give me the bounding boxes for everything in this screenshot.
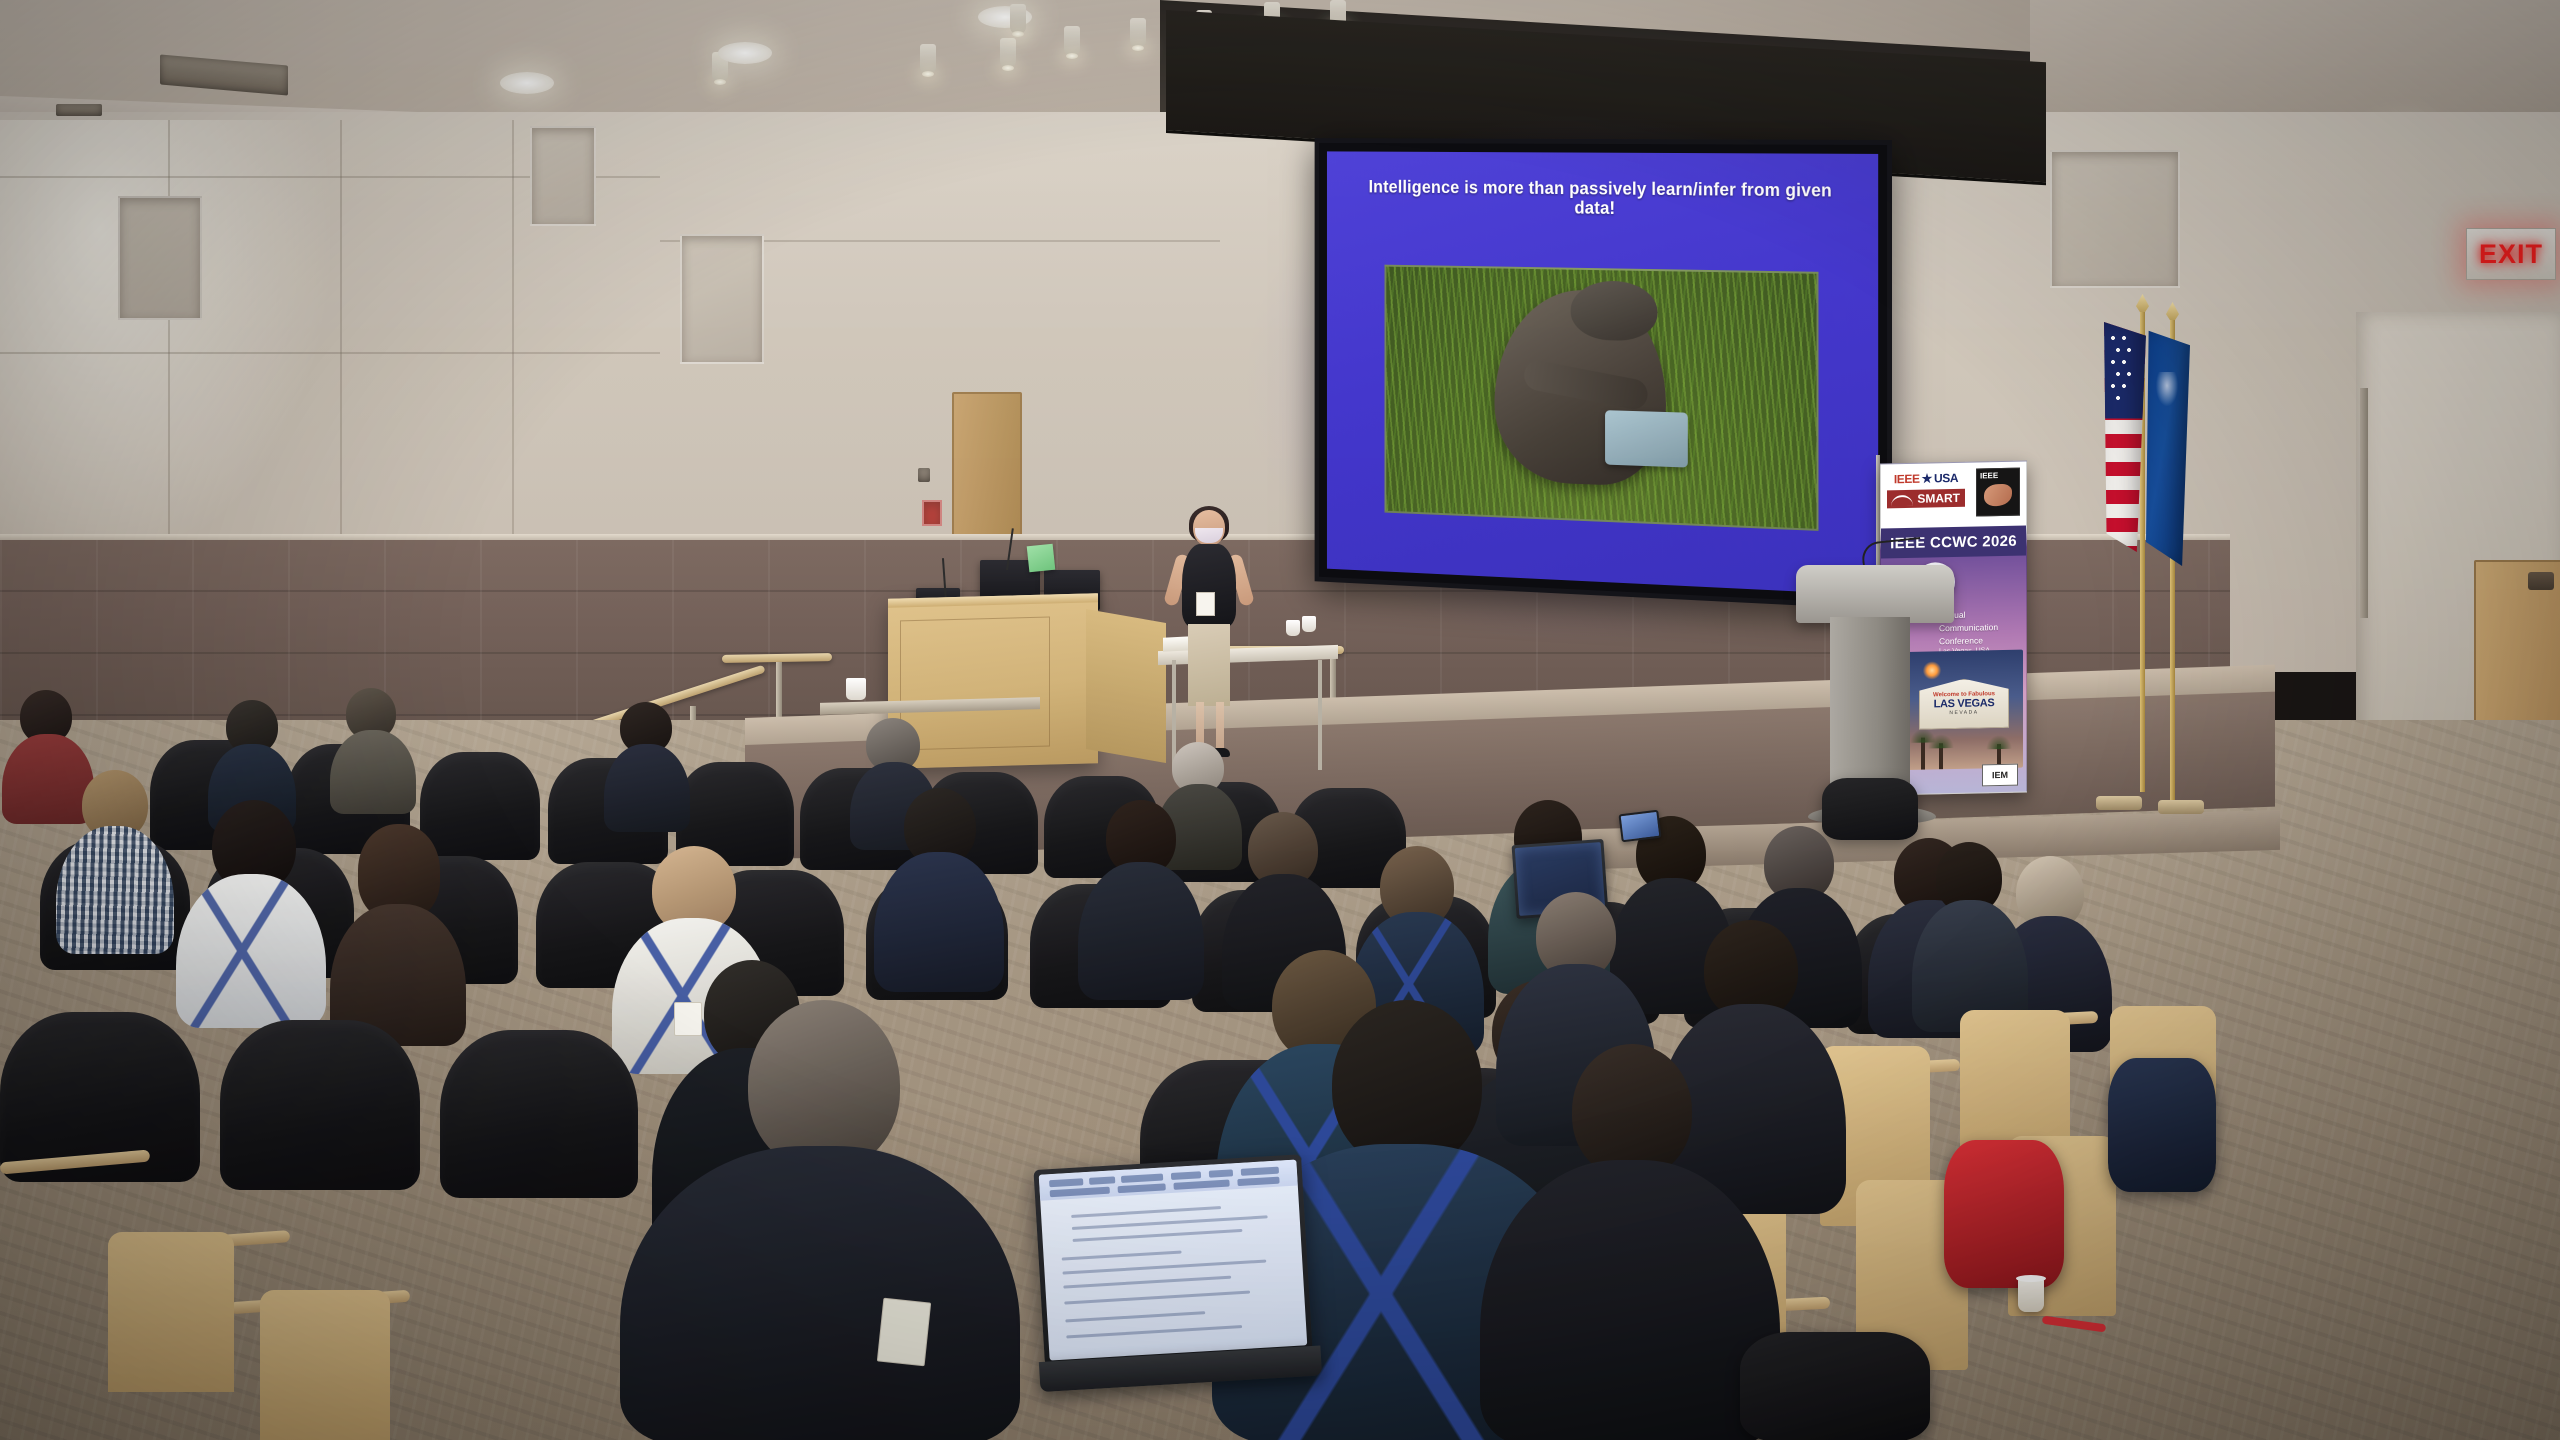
red-backpack — [1944, 1140, 2064, 1288]
nevada-flag-emblem — [2156, 372, 2178, 406]
document-line — [1064, 1291, 1250, 1305]
attendee — [56, 770, 174, 950]
door-closer-hardware — [2528, 572, 2554, 590]
attendee — [330, 824, 466, 1034]
pendant-light — [1010, 4, 1026, 34]
attendee-torso — [604, 744, 690, 832]
lectern-side-wing — [1086, 609, 1166, 763]
podium-column — [1830, 617, 1910, 803]
attendee-torso — [1078, 862, 1204, 1000]
water-cup — [1302, 616, 1316, 632]
attendee-foreground — [1480, 1044, 1780, 1440]
attendee — [604, 702, 690, 826]
attendee-head — [1572, 1044, 1692, 1178]
wall-vent — [56, 104, 102, 116]
wall-alcove-panel — [680, 234, 764, 364]
seat-wood-back — [108, 1232, 234, 1392]
ieee-usa-logo: IEEE ★ USA — [1887, 469, 1965, 489]
smart-logo-label: SMART — [1917, 491, 1960, 506]
laptop-screen[interactable] — [1039, 1160, 1308, 1361]
wall-seam — [0, 352, 660, 354]
seat[interactable] — [440, 1030, 638, 1198]
attendee-torso — [330, 730, 416, 814]
flag-star-field — [2108, 332, 2134, 410]
banner-logo-row: IEEE ★ USA SMART IEEE — [1881, 464, 2026, 529]
document-line — [1062, 1251, 1182, 1261]
podium-top — [1796, 565, 1954, 623]
slide-photo — [1385, 265, 1819, 531]
projection-screen: Intelligence is more than passively lear… — [1315, 138, 1892, 610]
wall-seam — [340, 120, 342, 540]
presentation-slide: Intelligence is more than passively lear… — [1327, 151, 1878, 595]
recessed-ceiling-light — [718, 42, 772, 64]
ieee-box-label: IEEE — [1980, 471, 1998, 480]
toolbar-chip — [1209, 1169, 1233, 1177]
document-line — [1072, 1215, 1268, 1230]
wall-seam — [168, 120, 170, 540]
coffee-cup — [2018, 1278, 2044, 1312]
seat-wood-back — [260, 1290, 390, 1440]
document-line — [1065, 1311, 1205, 1322]
slide-title-text: Intelligence is more than passively lear… — [1348, 177, 1855, 222]
fire-alarm-panel — [922, 500, 942, 526]
chimpanzee-head — [1571, 280, 1657, 342]
attendee-head — [748, 1000, 900, 1170]
seat[interactable] — [220, 1020, 420, 1190]
document-line — [1062, 1260, 1266, 1275]
wall-alcove-panel — [530, 126, 596, 226]
presenter-badge — [1196, 592, 1215, 616]
wall-light-wash — [0, 120, 330, 560]
pendant-light — [1064, 26, 1080, 56]
tool-object — [1605, 410, 1687, 468]
attendee-smartphone[interactable] — [1618, 810, 1661, 843]
attendee-lanyard — [176, 874, 326, 1028]
ceiling-right-strip — [2030, 0, 2560, 120]
attendee-torso — [874, 852, 1004, 992]
document-line — [1063, 1276, 1231, 1289]
attendee — [330, 688, 416, 808]
attendee-head — [1332, 1000, 1482, 1168]
attendee-torso — [176, 874, 326, 1028]
exit-sign-label: EXIT — [2479, 239, 2543, 270]
ieee-usa-suffix: USA — [1934, 471, 1958, 486]
navy-backpack — [2108, 1058, 2216, 1192]
presenter-skirt — [1188, 624, 1230, 706]
attendee — [176, 800, 326, 1020]
wall-speaker-grille — [918, 468, 930, 482]
laptop-lid — [1033, 1154, 1312, 1366]
presenter — [1172, 510, 1246, 760]
pendant-light — [1000, 38, 1016, 68]
pendant-light — [1130, 18, 1146, 48]
wall-alcove-panel — [118, 196, 202, 320]
water-cup — [846, 678, 866, 700]
door-jamb — [2360, 388, 2368, 618]
attendee — [874, 788, 1004, 988]
foreground-laptop[interactable] — [1033, 1154, 1314, 1399]
ieee-usa-prefix: IEEE — [1894, 472, 1920, 487]
document-line — [1066, 1325, 1242, 1338]
exit-sign: EXIT — [2466, 228, 2556, 280]
smart-logo: SMART — [1887, 489, 1965, 509]
attendee-torso — [56, 826, 174, 954]
water-cup — [1286, 620, 1300, 636]
wall-alcove-panel — [2050, 150, 2180, 288]
document-line — [1071, 1206, 1221, 1218]
ieee-publication-logo: IEEE — [1976, 468, 2020, 517]
green-notice-card — [1027, 544, 1056, 573]
auditorium-photo: Intelligence is more than passively lear… — [0, 0, 2560, 1440]
iem-sponsor-logo: IEM — [1982, 764, 2018, 787]
pendant-light — [920, 44, 936, 74]
recessed-ceiling-light — [500, 72, 554, 94]
document-line — [1073, 1229, 1243, 1242]
flag-stand-base — [2096, 796, 2142, 810]
flag-stand-base — [2158, 800, 2204, 814]
attendee-badge — [877, 1298, 931, 1367]
attendee — [1078, 800, 1204, 996]
attendee — [1912, 842, 2028, 1028]
attendee-torso — [620, 1146, 1020, 1440]
black-backpack — [1740, 1332, 1930, 1440]
ieee-box-graphic — [1984, 484, 2012, 507]
attendee-torso — [1480, 1160, 1780, 1440]
wall-seam — [512, 120, 514, 540]
attendee-foreground — [620, 1000, 1020, 1440]
